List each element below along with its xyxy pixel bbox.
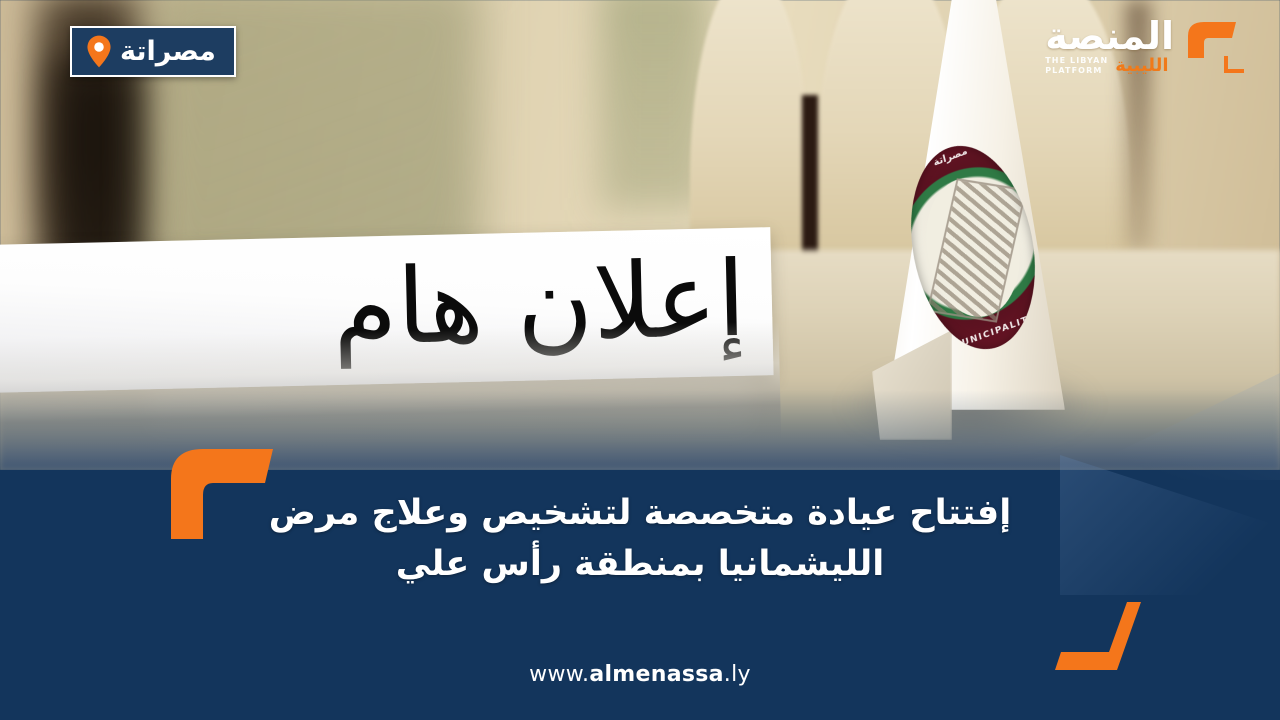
brand-subtitle-english-line2: PLATFORM: [1045, 66, 1102, 75]
headline-line-2: الليشمانيا بمنطقة رأس علي: [250, 539, 1030, 590]
brand-subtitle-english-line1: THE LIBYAN: [1045, 56, 1108, 65]
orange-hook-mark-icon: [1180, 16, 1252, 78]
website-tld: .ly: [724, 662, 751, 687]
website-url[interactable]: www.almenassa.ly: [0, 662, 1280, 687]
headline-line-1: إفتتاح عيادة متخصصة لتشخيص وعلاج مرض: [269, 493, 1011, 533]
brand-subtitle-arabic: الليبية: [1115, 57, 1168, 75]
announcement-banner-text: إعلان هام: [331, 224, 748, 383]
brand-mark-icon: [1180, 16, 1252, 78]
website-name: almenassa: [589, 662, 723, 687]
brand-name-arabic: المنصة: [1045, 18, 1174, 54]
announcement-banner: إعلان هام: [0, 227, 774, 393]
brand-subtitle: الليبية THE LIBYAN PLATFORM: [1045, 56, 1168, 76]
location-badge-label: مصراتة: [120, 38, 216, 65]
brand-logo[interactable]: المنصة الليبية THE LIBYAN PLATFORM: [1045, 16, 1252, 78]
map-pin-icon: [86, 35, 112, 68]
brand-subtitle-english: THE LIBYAN PLATFORM: [1045, 56, 1108, 76]
website-prefix: www.: [529, 662, 589, 687]
location-badge[interactable]: مصراتة: [70, 26, 236, 77]
news-card: مصراتة MUNICIPALITY إعلان هام مصراتة الم…: [0, 0, 1280, 720]
headline: إفتتاح عيادة متخصصة لتشخيص وعلاج مرض الل…: [250, 488, 1030, 590]
brand-wordmark: المنصة الليبية THE LIBYAN PLATFORM: [1045, 18, 1174, 75]
